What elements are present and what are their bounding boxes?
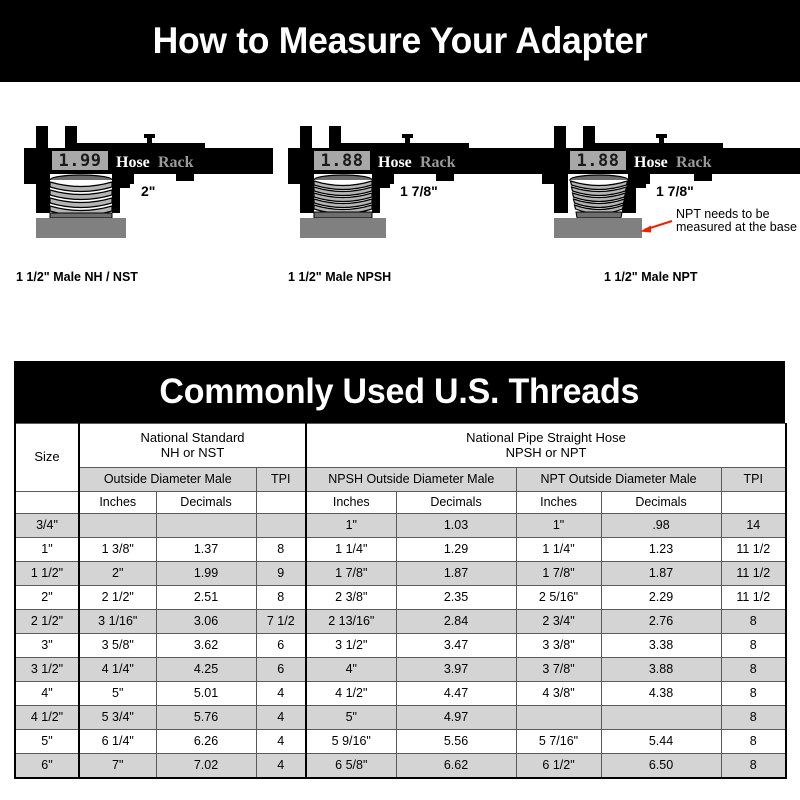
brand-rack: Rack xyxy=(420,154,456,171)
cell-size: 4 1/2" xyxy=(15,706,79,730)
cell-nh-tpi: 4 xyxy=(256,754,306,778)
cell-npt-decimals: 1.87 xyxy=(601,562,721,586)
table-row: 3"3 5/8"3.6263 1/2"3.473 3/8"3.388 xyxy=(15,634,786,658)
cell-npt-inches: 1 1/4" xyxy=(516,538,601,562)
cell-nh-tpi: 4 xyxy=(256,706,306,730)
cell-nh-inches: 5" xyxy=(79,682,156,706)
cell-npsh-inches: 5 9/16" xyxy=(306,730,396,754)
threads-table-head: Size National Standard NH or NST Nationa… xyxy=(15,424,786,514)
cell-npt-tpi: 8 xyxy=(721,658,786,682)
header-unit-tpi-nh-spacer xyxy=(256,492,306,514)
thread-fitting-straight xyxy=(314,175,372,218)
cell-size: 3" xyxy=(15,634,79,658)
cell-npt-decimals: 2.29 xyxy=(601,586,721,610)
table-row: 5"6 1/4"6.2645 9/16"5.565 7/16"5.448 xyxy=(15,730,786,754)
cell-npsh-decimals: 4.47 xyxy=(396,682,516,706)
cell-npsh-decimals: 5.56 xyxy=(396,730,516,754)
header-group-pipe-straight-hose: National Pipe Straight Hose NPSH or NPT xyxy=(306,424,786,468)
figure-npt: 1.88 Hose Rack 1 7/8" xyxy=(528,118,793,303)
cell-size: 3/4" xyxy=(15,514,79,538)
cell-nh-tpi: 4 xyxy=(256,730,306,754)
cell-npt-decimals: 1.23 xyxy=(601,538,721,562)
cell-npt-inches: 2 3/4" xyxy=(516,610,601,634)
cell-size: 5" xyxy=(15,730,79,754)
cell-nh-tpi: 8 xyxy=(256,586,306,610)
cell-npsh-decimals: 1.03 xyxy=(396,514,516,538)
cell-npt-inches: 6 1/2" xyxy=(516,754,601,778)
header-unit-decimals-npt: Decimals xyxy=(601,492,721,514)
cell-npsh-inches: 4 1/2" xyxy=(306,682,396,706)
cell-npt-inches: 3 7/8" xyxy=(516,658,601,682)
cell-npsh-inches: 5" xyxy=(306,706,396,730)
cell-npt-decimals: 5.44 xyxy=(601,730,721,754)
caliper-figures: 1.99 Hose Rack 2" 1 1/2" Male NH xyxy=(0,118,800,303)
cell-npsh-decimals: 2.35 xyxy=(396,586,516,610)
cell-npsh-inches: 1 1/4" xyxy=(306,538,396,562)
cell-nh-tpi: 8 xyxy=(256,538,306,562)
table-row: 1 1/2"2"1.9991 7/8"1.871 7/8"1.8711 1/2 xyxy=(15,562,786,586)
table-row: 3 1/2"4 1/4"4.2564"3.973 7/8"3.888 xyxy=(15,658,786,682)
caliper-diagram-npt: 1.88 Hose Rack 1 7/8" xyxy=(528,118,800,268)
cell-npsh-inches: 6 5/8" xyxy=(306,754,396,778)
cell-nh-decimals: 4.25 xyxy=(156,658,256,682)
cell-nh-inches xyxy=(79,514,156,538)
cell-nh-decimals: 2.51 xyxy=(156,586,256,610)
npt-base-arrow-icon xyxy=(640,221,672,233)
dimension-label: 1 7/8" xyxy=(400,183,438,199)
cell-npt-inches: 3 3/8" xyxy=(516,634,601,658)
cell-nh-decimals xyxy=(156,514,256,538)
header-npt-od-male: NPT Outside Diameter Male xyxy=(516,468,721,492)
header-unit-inches-npsh: Inches xyxy=(306,492,396,514)
table-row: 2 1/2"3 1/16"3.067 1/22 13/16"2.842 3/4"… xyxy=(15,610,786,634)
brand-hose: Hose xyxy=(634,154,668,171)
cell-nh-decimals: 5.01 xyxy=(156,682,256,706)
cell-npsh-decimals: 6.62 xyxy=(396,754,516,778)
page-title: How to Measure Your Adapter xyxy=(16,0,784,82)
table-row: 3/4"1"1.031".9814 xyxy=(15,514,786,538)
brand-hose: Hose xyxy=(116,154,150,171)
header-tpi-nh: TPI xyxy=(256,468,306,492)
header-group-nh-line2: NH or NST xyxy=(82,446,303,461)
caliper-reading: 1.88 xyxy=(577,151,620,171)
brand-rack: Rack xyxy=(158,154,194,171)
cell-npsh-inches: 1 7/8" xyxy=(306,562,396,586)
cell-npsh-decimals: 1.87 xyxy=(396,562,516,586)
npt-note-line2: measured at the base xyxy=(676,220,797,234)
cell-nh-tpi: 7 1/2 xyxy=(256,610,306,634)
table-row: 4"5"5.0144 1/2"4.474 3/8"4.388 xyxy=(15,682,786,706)
cell-npsh-inches: 2 13/16" xyxy=(306,610,396,634)
threads-table: Size National Standard NH or NST Nationa… xyxy=(14,423,787,779)
cell-npt-tpi: 14 xyxy=(721,514,786,538)
cell-npt-decimals: 2.76 xyxy=(601,610,721,634)
header-npsh-od-male: NPSH Outside Diameter Male xyxy=(306,468,516,492)
cell-npsh-inches: 2 3/8" xyxy=(306,586,396,610)
cell-npt-tpi: 8 xyxy=(721,610,786,634)
cell-npt-inches: 1" xyxy=(516,514,601,538)
header-tpi-npt: TPI xyxy=(721,468,786,492)
cell-nh-inches: 4 1/4" xyxy=(79,658,156,682)
cell-npsh-decimals: 3.47 xyxy=(396,634,516,658)
dimension-label: 1 7/8" xyxy=(656,183,694,199)
threads-banner: Commonly Used U.S. Threads xyxy=(14,361,785,423)
figure-nh-nst: 1.99 Hose Rack 2" 1 1/2" Male NH xyxy=(8,118,273,303)
header-unit-decimals-npsh: Decimals xyxy=(396,492,516,514)
table-row: 1"1 3/8"1.3781 1/4"1.291 1/4"1.2311 1/2 xyxy=(15,538,786,562)
cell-nh-tpi: 6 xyxy=(256,658,306,682)
threads-table-body: 3/4"1"1.031".98141"1 3/8"1.3781 1/4"1.29… xyxy=(15,514,786,778)
caliper-diagram-npsh: 1.88 Hose Rack 1 7/8" xyxy=(278,118,543,268)
figure-caption: 1 1/2" Male NPT xyxy=(604,270,697,284)
cell-nh-decimals: 7.02 xyxy=(156,754,256,778)
dimension-label: 2" xyxy=(141,183,155,199)
cell-nh-inches: 7" xyxy=(79,754,156,778)
caliper-diagram-nh-nst: 1.99 Hose Rack 2" xyxy=(8,118,273,268)
cell-npsh-decimals: 1.29 xyxy=(396,538,516,562)
npt-note-line1: NPT needs to be xyxy=(676,207,770,221)
header-unit-decimals-nh: Decimals xyxy=(156,492,256,514)
cell-nh-decimals: 3.06 xyxy=(156,610,256,634)
table-row: 4 1/2"5 3/4"5.7645"4.978 xyxy=(15,706,786,730)
cell-npt-decimals: 3.38 xyxy=(601,634,721,658)
cell-size: 2" xyxy=(15,586,79,610)
cell-npt-inches: 2 5/16" xyxy=(516,586,601,610)
threads-section: Commonly Used U.S. Threads Size National… xyxy=(14,361,785,779)
cell-npsh-inches: 3 1/2" xyxy=(306,634,396,658)
figure-caption: 1 1/2" Male NH / NST xyxy=(16,270,138,284)
cell-nh-inches: 3 5/8" xyxy=(79,634,156,658)
header-group-national-standard: National Standard NH or NST xyxy=(79,424,306,468)
thread-fitting-tapered xyxy=(570,175,628,218)
brand-rack: Rack xyxy=(676,154,712,171)
caliper-reading: 1.88 xyxy=(321,151,364,171)
header-size-spacer xyxy=(15,492,79,514)
cell-size: 3 1/2" xyxy=(15,658,79,682)
figure-npsh: 1.88 Hose Rack 1 7/8" 1 1/2" Male NPSH xyxy=(278,118,543,303)
cell-nh-tpi xyxy=(256,514,306,538)
cell-size: 2 1/2" xyxy=(15,610,79,634)
header-group-npsh-line1: National Pipe Straight Hose xyxy=(309,431,783,446)
cell-npt-tpi: 8 xyxy=(721,706,786,730)
cell-nh-decimals: 6.26 xyxy=(156,730,256,754)
table-row: 2"2 1/2"2.5182 3/8"2.352 5/16"2.2911 1/2 xyxy=(15,586,786,610)
cell-npt-inches xyxy=(516,706,601,730)
brand-hose: Hose xyxy=(378,154,412,171)
cell-npt-tpi: 8 xyxy=(721,754,786,778)
cell-nh-inches: 2 1/2" xyxy=(79,586,156,610)
cell-nh-decimals: 1.99 xyxy=(156,562,256,586)
cell-npt-tpi: 8 xyxy=(721,682,786,706)
cell-size: 4" xyxy=(15,682,79,706)
cell-size: 1 1/2" xyxy=(15,562,79,586)
header-row-groups: Size National Standard NH or NST Nationa… xyxy=(15,424,786,468)
header-group-npsh-line2: NPSH or NPT xyxy=(309,446,783,461)
table-row: 6"7"7.0246 5/8"6.626 1/2"6.508 xyxy=(15,754,786,778)
cell-npt-decimals xyxy=(601,706,721,730)
header-row-units: Inches Decimals Inches Decimals Inches D… xyxy=(15,492,786,514)
figure-caption: 1 1/2" Male NPSH xyxy=(288,270,391,284)
cell-npt-decimals: .98 xyxy=(601,514,721,538)
caliper-reading: 1.99 xyxy=(59,151,102,171)
cell-npsh-decimals: 3.97 xyxy=(396,658,516,682)
cell-nh-decimals: 1.37 xyxy=(156,538,256,562)
cell-nh-tpi: 6 xyxy=(256,634,306,658)
cell-npt-tpi: 11 1/2 xyxy=(721,586,786,610)
header-size: Size xyxy=(15,424,79,492)
cell-npt-tpi: 11 1/2 xyxy=(721,538,786,562)
cell-npsh-decimals: 2.84 xyxy=(396,610,516,634)
header-unit-inches-nh: Inches xyxy=(79,492,156,514)
cell-nh-inches: 3 1/16" xyxy=(79,610,156,634)
cell-nh-inches: 1 3/8" xyxy=(79,538,156,562)
cell-npt-decimals: 6.50 xyxy=(601,754,721,778)
cell-nh-tpi: 4 xyxy=(256,682,306,706)
cell-npsh-inches: 4" xyxy=(306,658,396,682)
fitting-base xyxy=(36,218,126,238)
cell-nh-decimals: 3.62 xyxy=(156,634,256,658)
cell-size: 1" xyxy=(15,538,79,562)
cell-npt-decimals: 3.88 xyxy=(601,658,721,682)
cell-npt-tpi: 11 1/2 xyxy=(721,562,786,586)
thread-fitting-straight xyxy=(50,175,112,218)
header-unit-tpi-npt-spacer xyxy=(721,492,786,514)
cell-npt-decimals: 4.38 xyxy=(601,682,721,706)
cell-nh-tpi: 9 xyxy=(256,562,306,586)
cell-nh-inches: 2" xyxy=(79,562,156,586)
cell-npsh-decimals: 4.97 xyxy=(396,706,516,730)
threads-banner-title: Commonly Used U.S. Threads xyxy=(160,372,640,412)
top-title-banner: How to Measure Your Adapter xyxy=(0,0,800,82)
header-row-subgroups: Outside Diameter Male TPI NPSH Outside D… xyxy=(15,468,786,492)
cell-npt-inches: 4 3/8" xyxy=(516,682,601,706)
cell-npsh-inches: 1" xyxy=(306,514,396,538)
cell-nh-inches: 5 3/4" xyxy=(79,706,156,730)
header-group-nh-line1: National Standard xyxy=(82,431,303,446)
fitting-base xyxy=(300,218,386,238)
cell-npt-inches: 5 7/16" xyxy=(516,730,601,754)
cell-npt-tpi: 8 xyxy=(721,634,786,658)
header-od-male-nh: Outside Diameter Male xyxy=(79,468,256,492)
cell-npt-inches: 1 7/8" xyxy=(516,562,601,586)
cell-nh-inches: 6 1/4" xyxy=(79,730,156,754)
cell-nh-decimals: 5.76 xyxy=(156,706,256,730)
header-unit-inches-npt: Inches xyxy=(516,492,601,514)
cell-npt-tpi: 8 xyxy=(721,730,786,754)
cell-size: 6" xyxy=(15,754,79,778)
fitting-base xyxy=(554,218,642,238)
